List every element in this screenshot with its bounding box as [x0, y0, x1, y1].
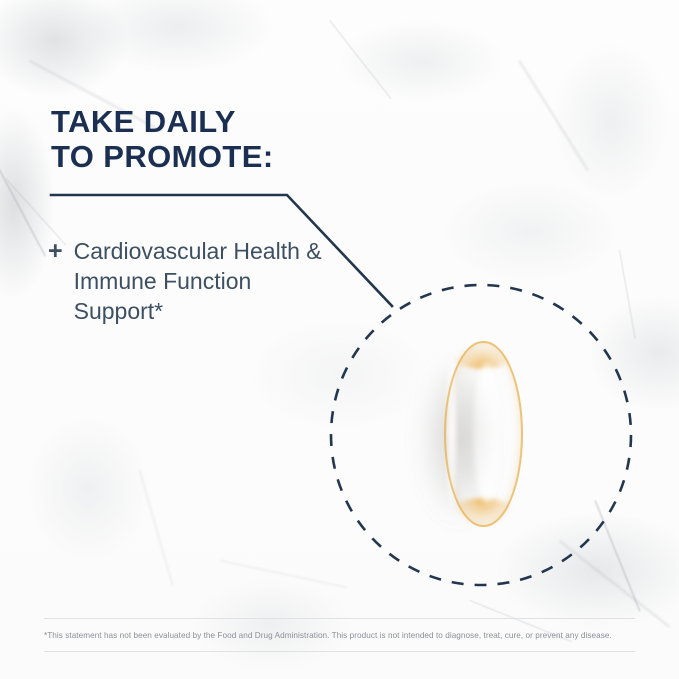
benefit-list-item: + Cardiovascular Health & Immune Functio… [48, 236, 339, 326]
disclaimer-text: *This statement has not been evaluated b… [44, 630, 612, 641]
headline-line-2: TO PROMOTE: [51, 139, 274, 174]
disclaimer-band: *This statement has not been evaluated b… [44, 618, 635, 652]
product-callout-graphic: TAKE DAILY TO PROMOTE: + Cardiovascular … [0, 0, 679, 679]
headline-line-1: TAKE DAILY [51, 104, 236, 139]
marble-background [0, 0, 679, 679]
benefit-text: Cardiovascular Health & Immune Function … [74, 236, 339, 326]
capsule-rim [444, 341, 523, 527]
plus-bullet-icon: + [48, 236, 63, 266]
softgel-capsule [444, 341, 523, 527]
page-title: TAKE DAILY TO PROMOTE: [51, 104, 274, 174]
